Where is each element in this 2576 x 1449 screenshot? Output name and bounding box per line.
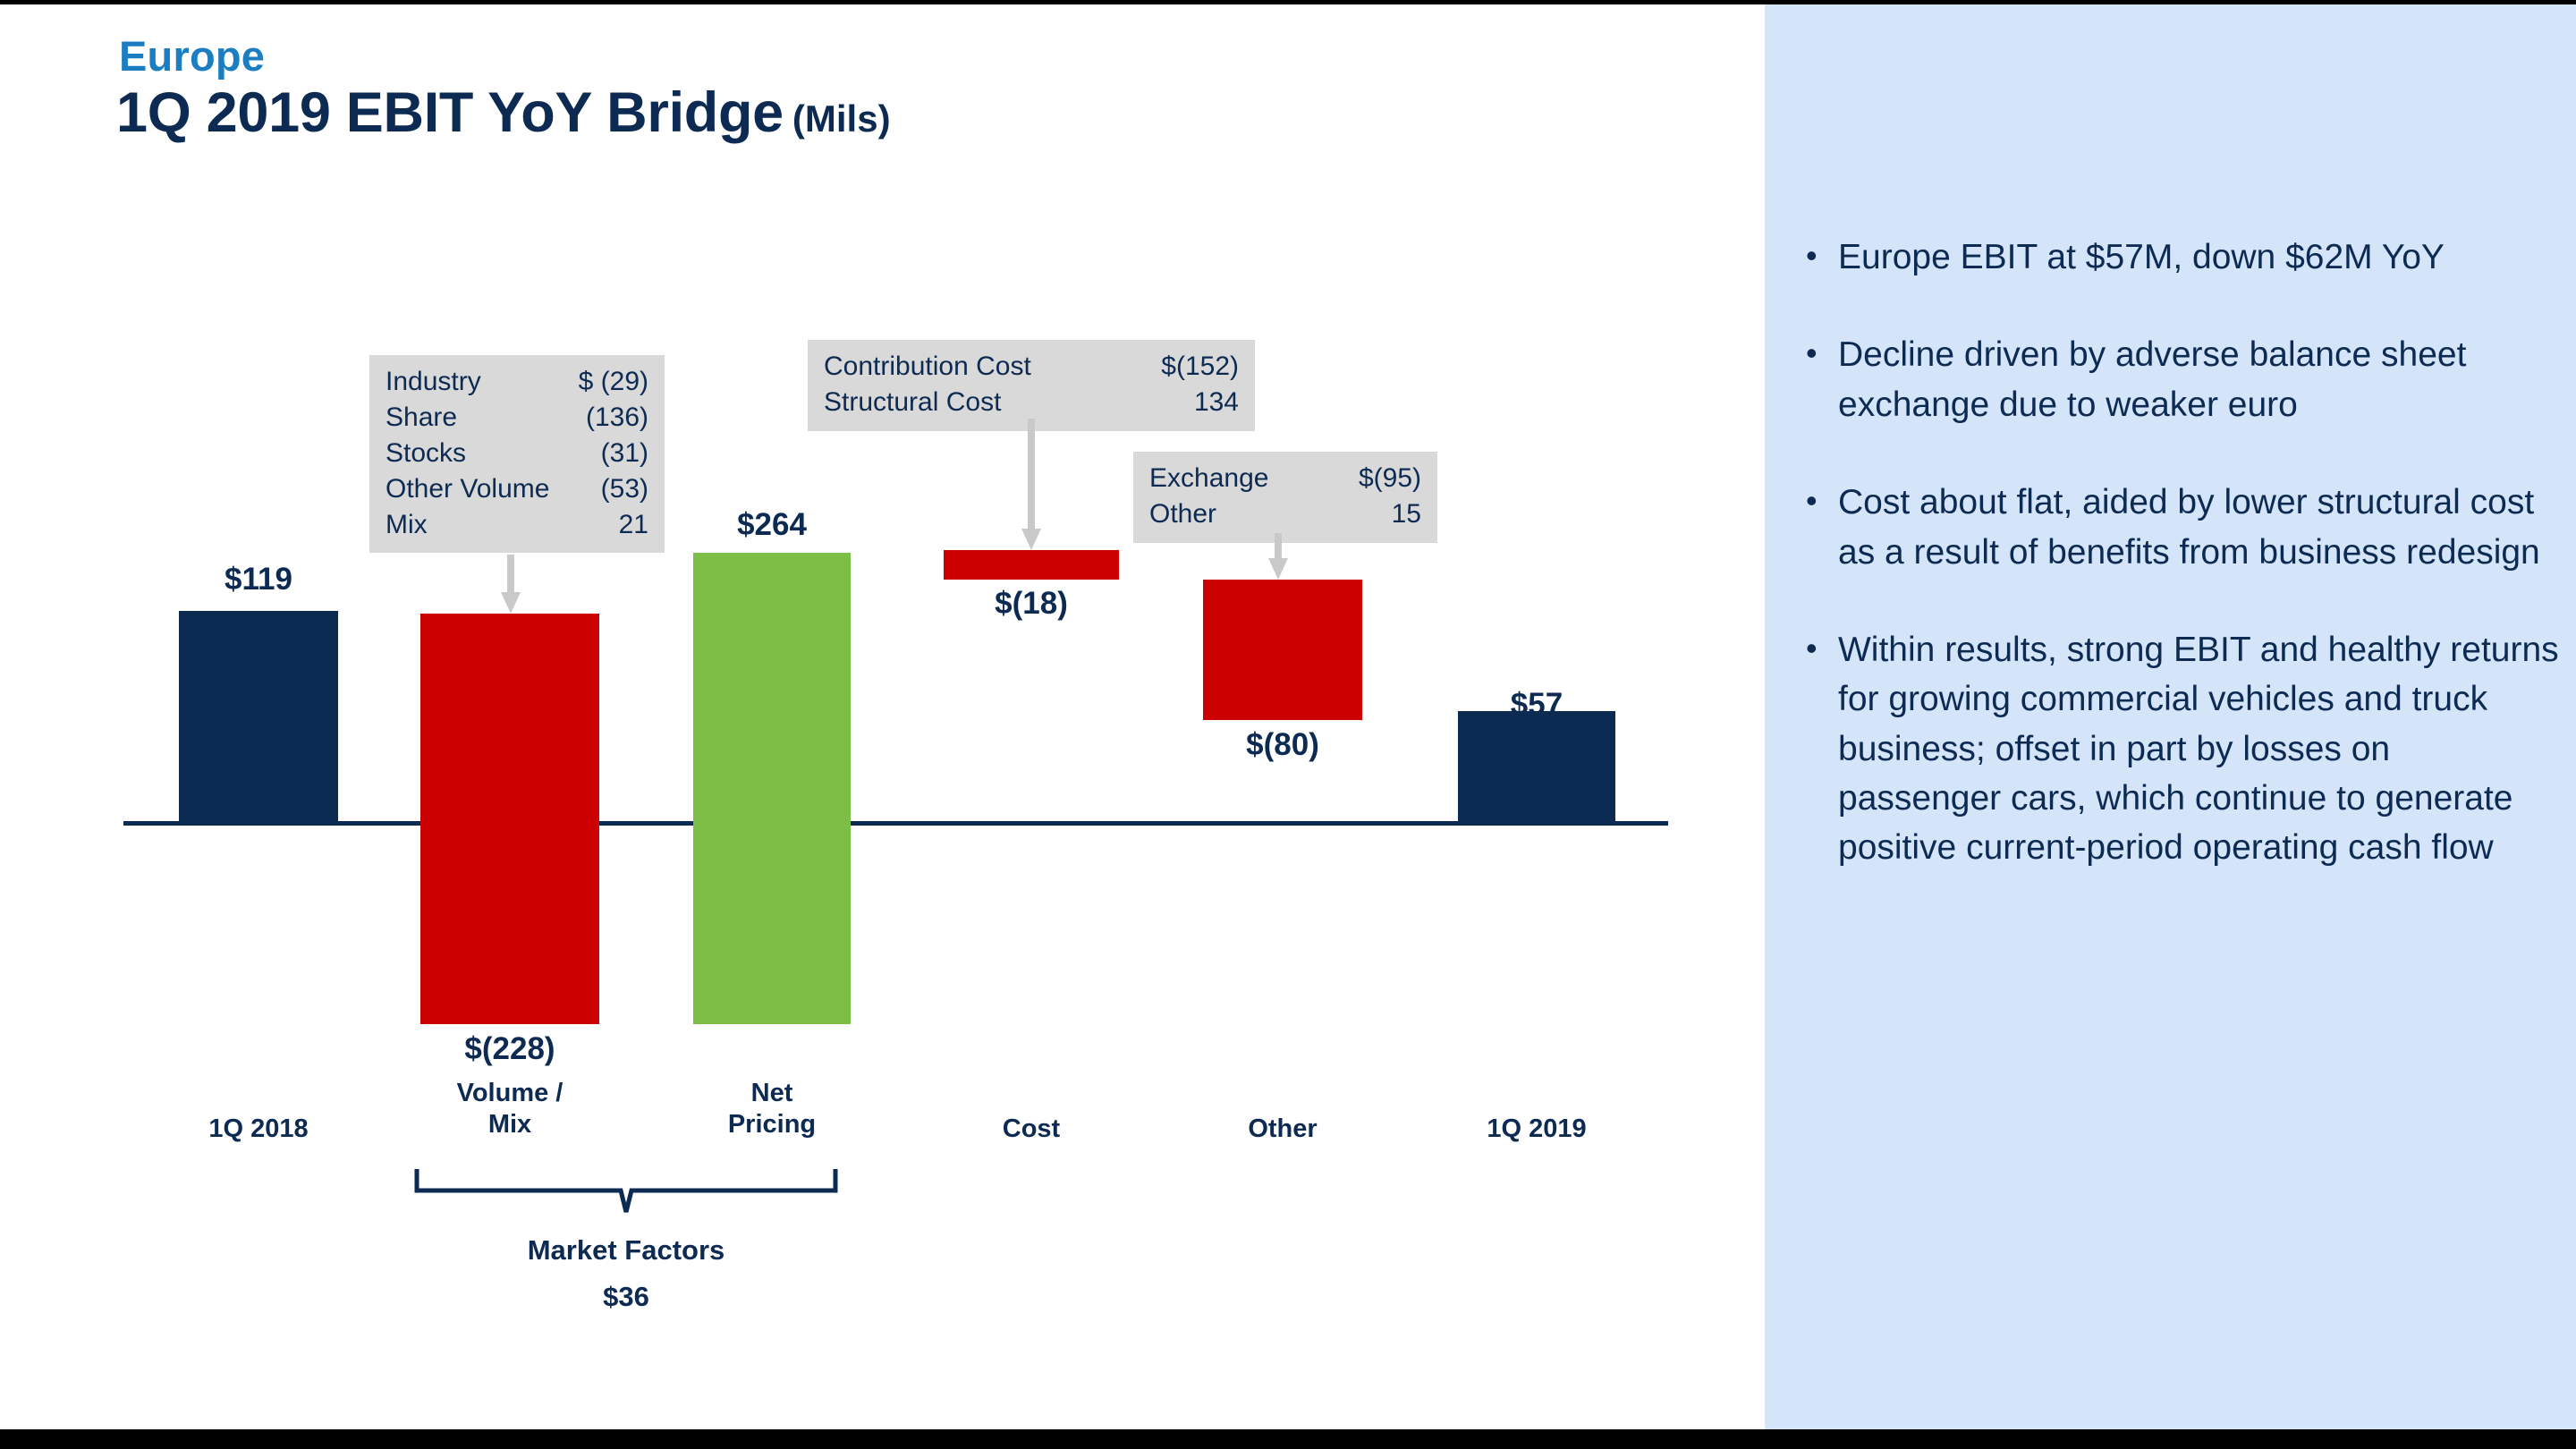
callout-cost: Contribution Cost $(152) Structural Cost… <box>808 340 1255 431</box>
bullet-text: Cost about flat, aided by lower structur… <box>1838 478 2561 577</box>
market-factors-brace <box>411 1165 841 1219</box>
callout-row-value: $ (29) <box>579 364 648 400</box>
bullet-dot-icon: • <box>1792 330 1838 429</box>
callout-row-name: Other <box>1149 496 1216 532</box>
callout-row-name: Mix <box>386 507 428 543</box>
callout-row-value: 15 <box>1392 496 1421 532</box>
callout-row: Other Volume (53) <box>386 471 648 507</box>
value-label-volume-mix: $(228) <box>420 1031 599 1067</box>
bar-net-pricing <box>693 553 851 1024</box>
commentary-panel: • Europe EBIT at $57M, down $62M YoY • D… <box>1765 4 2576 1429</box>
callout-row-value: $(95) <box>1359 461 1421 496</box>
bullet-dot-icon: • <box>1792 478 1838 577</box>
bar-cost <box>944 550 1119 580</box>
value-label-1q-2019: $57 <box>1447 687 1626 723</box>
value-label-cost: $(18) <box>942 586 1121 622</box>
list-item: • Europe EBIT at $57M, down $62M YoY <box>1792 233 2561 282</box>
callout-row-value: $(152) <box>1161 349 1239 385</box>
list-item: • Cost about flat, aided by lower struct… <box>1792 478 2561 577</box>
market-factors-label: Market Factors <box>411 1234 841 1267</box>
callout-row-name: Share <box>386 400 457 436</box>
callout-row-name: Exchange <box>1149 461 1268 496</box>
bullet-dot-icon: • <box>1792 625 1838 873</box>
ebit-waterfall-chart: $119 $(228) $264 $(18) $(80) $57 1Q 2018… <box>0 4 1765 1429</box>
callout-row: Exchange $(95) <box>1149 461 1421 496</box>
callout-row-name: Industry <box>386 364 481 400</box>
slide-content-area: Europe 1Q 2019 EBIT YoY Bridge(Mils) $11… <box>0 4 1765 1429</box>
category-label-other: Other <box>1193 1114 1372 1145</box>
value-label-1q-2018: $119 <box>169 562 348 597</box>
callout-row: Contribution Cost $(152) <box>824 349 1239 385</box>
bullet-dot-icon: • <box>1792 233 1838 282</box>
callout-volume-mix: Industry $ (29) Share (136) Stocks (31) … <box>369 355 665 553</box>
callout-row: Other 15 <box>1149 496 1421 532</box>
callout-row-name: Structural Cost <box>824 385 1001 420</box>
callout-row-value: 134 <box>1194 385 1239 420</box>
chart-baseline-axis <box>123 821 1668 826</box>
callout-row: Mix 21 <box>386 507 648 543</box>
value-label-other: $(80) <box>1193 727 1372 763</box>
callout-row-name: Contribution Cost <box>824 349 1031 385</box>
list-item: • Within results, strong EBIT and health… <box>1792 625 2561 873</box>
category-label-volume-mix: Volume /Mix <box>420 1078 599 1141</box>
callout-row: Industry $ (29) <box>386 364 648 400</box>
callout-row-value: (136) <box>586 400 648 436</box>
category-label-1q-2018: 1Q 2018 <box>169 1114 348 1145</box>
bar-1q-2019 <box>1458 711 1615 825</box>
category-label-cost: Cost <box>942 1114 1121 1145</box>
callout-row: Share (136) <box>386 400 648 436</box>
bullet-text: Within results, strong EBIT and healthy … <box>1838 625 2561 873</box>
callout-arrow-cost <box>1021 419 1041 550</box>
bar-1q-2018 <box>179 611 338 825</box>
brace-icon <box>411 1165 841 1219</box>
callout-row-name: Stocks <box>386 436 466 471</box>
callout-row-value: (31) <box>601 436 648 471</box>
callout-row: Stocks (31) <box>386 436 648 471</box>
category-label-1q-2019: 1Q 2019 <box>1447 1114 1626 1145</box>
bottom-border-strip <box>0 1429 2576 1449</box>
callout-row-value: 21 <box>619 507 648 543</box>
category-label-net-pricing: NetPricing <box>682 1078 861 1141</box>
bullet-text: Decline driven by adverse balance sheet … <box>1838 330 2561 429</box>
value-label-net-pricing: $264 <box>682 507 861 543</box>
callout-other: Exchange $(95) Other 15 <box>1133 452 1437 543</box>
commentary-bullet-list: • Europe EBIT at $57M, down $62M YoY • D… <box>1792 233 2561 921</box>
callout-row-value: (53) <box>601 471 648 507</box>
bar-other <box>1203 580 1362 720</box>
market-factors-value: $36 <box>411 1281 841 1313</box>
bar-volume-mix <box>420 614 599 1024</box>
callout-row-name: Other Volume <box>386 471 549 507</box>
callout-arrow-other <box>1268 533 1288 580</box>
callout-row: Structural Cost 134 <box>824 385 1239 420</box>
list-item: • Decline driven by adverse balance shee… <box>1792 330 2561 429</box>
bullet-text: Europe EBIT at $57M, down $62M YoY <box>1838 233 2445 282</box>
callout-arrow-volume-mix <box>501 555 521 614</box>
